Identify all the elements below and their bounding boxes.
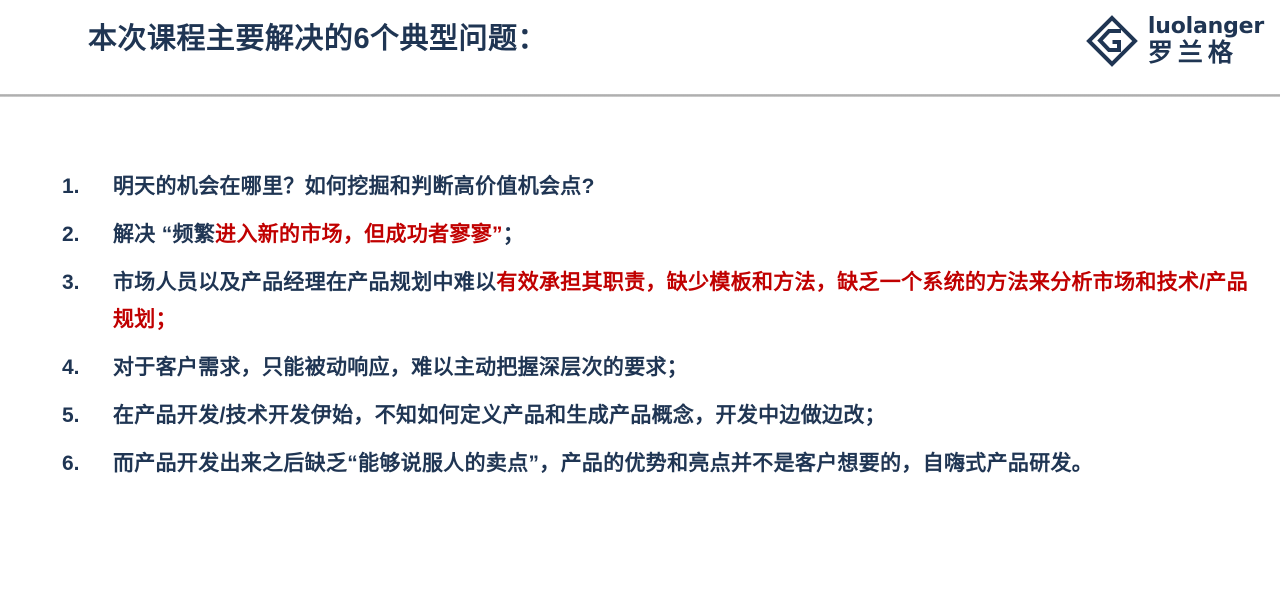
problem-list: 1.明天的机会在哪里？如何挖掘和判断高价值机会点?2.解决 “频繁进入新的市场，… bbox=[0, 168, 1280, 493]
body-text: 解决 “频繁 bbox=[113, 223, 215, 246]
body-text: 在产品开发/技术开发伊始，不知如何定义产品和生成产品概念，开发中边做边改； bbox=[113, 404, 886, 427]
list-item-text: 在产品开发/技术开发伊始，不知如何定义产品和生成产品概念，开发中边做边改； bbox=[113, 397, 1280, 434]
list-item: 5.在产品开发/技术开发伊始，不知如何定义产品和生成产品概念，开发中边做边改； bbox=[0, 397, 1280, 434]
slide-header: 本次课程主要解决的6个典型问题： luolanger 罗兰格 bbox=[0, 0, 1280, 96]
list-item: 2.解决 “频繁进入新的市场，但成功者寥寥”； bbox=[0, 216, 1280, 253]
brand-name-latin: luolanger bbox=[1148, 16, 1264, 38]
list-item-number: 6. bbox=[62, 445, 113, 482]
list-item-text: 对于客户需求，只能被动响应，难以主动把握深层次的要求； bbox=[113, 349, 1280, 386]
diamond-g-logo-icon bbox=[1085, 14, 1139, 68]
list-item: 1.明天的机会在哪里？如何挖掘和判断高价值机会点? bbox=[0, 168, 1280, 205]
brand-logo: luolanger 罗兰格 bbox=[1085, 14, 1264, 68]
list-item-number: 1. bbox=[62, 168, 113, 205]
body-text: 市场人员以及产品经理在产品规划中难以 bbox=[113, 271, 496, 294]
page-title: 本次课程主要解决的6个典型问题： bbox=[88, 18, 547, 60]
brand-logo-text: luolanger 罗兰格 bbox=[1148, 16, 1264, 66]
body-text: 而产品开发出来之后缺乏“能够说服人的卖点”，产品的优势和亮点并不是客户想要的，自… bbox=[113, 452, 1093, 475]
list-item-text: 明天的机会在哪里？如何挖掘和判断高价值机会点? bbox=[113, 168, 1280, 205]
list-item-text: 解决 “频繁进入新的市场，但成功者寥寥”； bbox=[113, 216, 1280, 253]
body-text: 明天的机会在哪里？如何挖掘和判断高价值机会点? bbox=[113, 175, 595, 198]
list-item: 4.对于客户需求，只能被动响应，难以主动把握深层次的要求； bbox=[0, 349, 1280, 386]
list-item-number: 3. bbox=[62, 264, 113, 301]
emphasis-text: 进入新的市场，但成功者寥寥” bbox=[215, 223, 503, 246]
list-item-number: 4. bbox=[62, 349, 113, 386]
brand-name-chinese: 罗兰格 bbox=[1148, 41, 1264, 66]
body-text: 对于客户需求，只能被动响应，难以主动把握深层次的要求； bbox=[113, 356, 688, 379]
list-item-text: 市场人员以及产品经理在产品规划中难以有效承担其职责，缺少模板和方法，缺乏一个系统… bbox=[113, 264, 1280, 338]
list-item: 6.而产品开发出来之后缺乏“能够说服人的卖点”，产品的优势和亮点并不是客户想要的… bbox=[0, 445, 1280, 482]
list-item-number: 2. bbox=[62, 216, 113, 253]
header-divider bbox=[0, 94, 1280, 97]
list-item-text: 而产品开发出来之后缺乏“能够说服人的卖点”，产品的优势和亮点并不是客户想要的，自… bbox=[113, 445, 1280, 482]
body-text: ； bbox=[503, 223, 524, 246]
list-item-number: 5. bbox=[62, 397, 113, 434]
list-item: 3.市场人员以及产品经理在产品规划中难以有效承担其职责，缺少模板和方法，缺乏一个… bbox=[0, 264, 1280, 338]
